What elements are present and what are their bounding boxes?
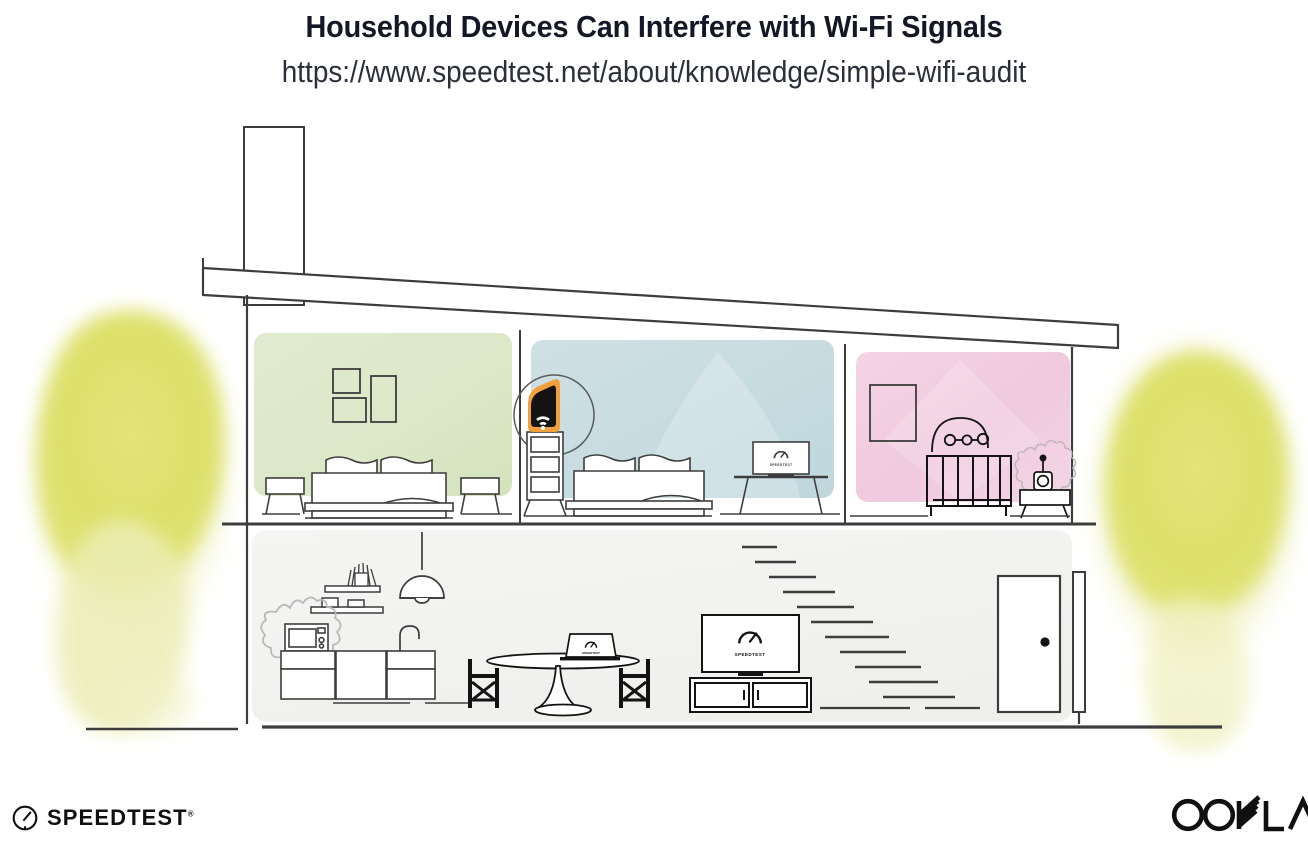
trademark-symbol: ®: [188, 810, 194, 819]
tv-screen-label: SPEEDTEST: [735, 652, 766, 657]
side-table: [1020, 490, 1070, 518]
speedtest-logo[interactable]: SPEEDTEST®: [12, 805, 194, 831]
bed-frame: [312, 511, 446, 518]
kitchen-shelf-upper: [325, 586, 380, 592]
room-bedroom-blue: SPEEDTEST: [514, 340, 840, 516]
poster-footer: SPEEDTEST®: [0, 766, 1308, 861]
foliage-right: [1103, 350, 1288, 751]
speedometer-icon: [12, 805, 38, 831]
foliage-left: [36, 310, 224, 734]
room-nursery-pink: [850, 352, 1076, 518]
poster-page: SPEEDTEST: [0, 0, 1308, 861]
window-panel: [1073, 572, 1085, 712]
microwave: [285, 624, 328, 651]
page-title: Household Devices Can Interfere with Wi-…: [46, 0, 1262, 47]
poster-header: Household Devices Can Interfere with Wi-…: [0, 0, 1308, 90]
monitor-screen-label: SPEEDTEST: [770, 463, 793, 467]
room-bedroom-green: [254, 333, 512, 518]
house-cutaway-wifi-illustration: SPEEDTEST: [0, 0, 1308, 861]
laptop-screen-label: SPEEDTEST: [582, 651, 600, 655]
shelf-unit: [524, 432, 566, 516]
laptop: [560, 634, 620, 660]
source-url[interactable]: https://www.speedtest.net/about/knowledg…: [65, 47, 1242, 90]
door-knob-icon: [1040, 637, 1049, 646]
ookla-mark-icon: [1166, 793, 1308, 839]
bed-blue: [566, 455, 712, 516]
television: [702, 615, 799, 676]
front-door: [998, 576, 1060, 712]
room-living-kitchen-gray: SPEEDTEST: [252, 530, 1085, 722]
kitchen-counters: [281, 651, 435, 699]
monitor: [753, 442, 809, 476]
media-console: [690, 678, 811, 712]
speedtest-wordmark: SPEEDTEST®: [47, 807, 194, 829]
bed-base: [305, 503, 453, 511]
ookla-logo[interactable]: [1166, 793, 1308, 839]
